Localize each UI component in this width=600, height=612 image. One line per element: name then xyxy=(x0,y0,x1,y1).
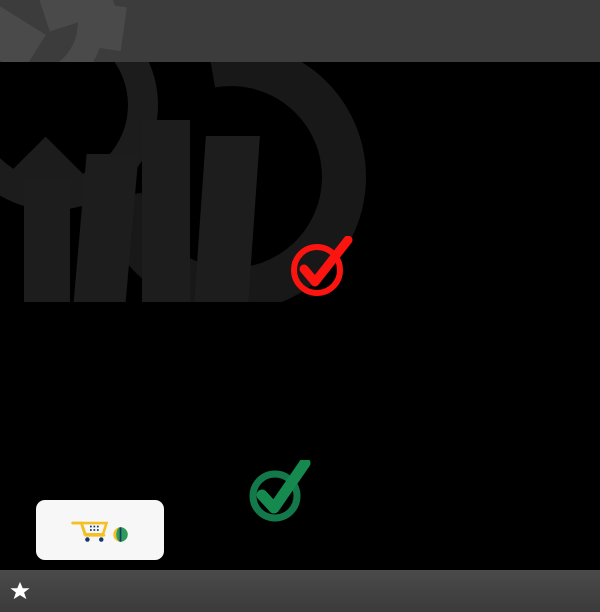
logo-wordmark xyxy=(111,521,130,538)
star-icon xyxy=(10,581,30,601)
site-header xyxy=(0,0,600,62)
red-check-icon xyxy=(286,236,356,298)
globe-icon xyxy=(112,521,129,538)
trustpilot-rating[interactable] xyxy=(10,581,42,601)
green-check-icon xyxy=(242,460,312,522)
shopping-cart-icon xyxy=(70,517,110,543)
site-footer xyxy=(0,570,600,612)
promo-banner xyxy=(0,0,600,612)
y-axis-right xyxy=(576,334,600,570)
chart-green-bars xyxy=(0,62,600,302)
y-axis-left xyxy=(2,62,36,302)
charts-region xyxy=(0,62,600,570)
site-title xyxy=(0,0,600,62)
brand-logo[interactable] xyxy=(36,500,164,560)
